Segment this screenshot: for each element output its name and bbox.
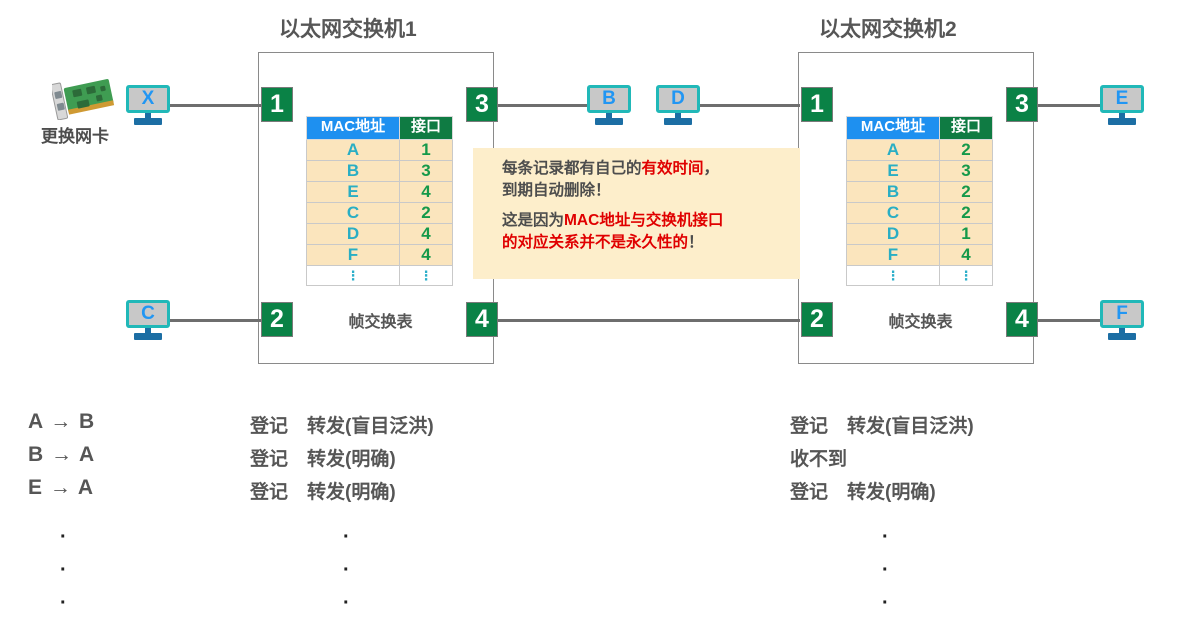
table-header-row: MAC地址 接口	[847, 117, 993, 140]
monitor-base	[134, 118, 162, 125]
table-row: B 3	[307, 160, 453, 181]
table-row: E 4	[307, 181, 453, 202]
note-line1-part-a: 每条记录都有自己的	[502, 160, 642, 177]
host-label: E	[1116, 89, 1129, 108]
cell-ellipsis-mac: ⋮	[847, 265, 940, 285]
ellipsis-dot-mid-1: ·	[343, 527, 350, 547]
monitor-screen: X	[126, 85, 170, 113]
switch2-title: 以太网交换机2	[819, 13, 957, 43]
ellipsis-dot-right-2: ·	[882, 560, 889, 580]
switch1-port-4[interactable]: 4	[466, 302, 498, 337]
cell-port: 4	[400, 223, 453, 244]
cell-mac: C	[847, 202, 940, 223]
wire-x-to-sw1-p1	[163, 104, 263, 107]
table-row-ellipsis: ⋮ ⋮	[307, 265, 453, 285]
cell-mac: E	[307, 181, 400, 202]
wire-sw1-p4-to-sw2-p2	[478, 319, 800, 322]
cell-ellipsis-port: ⋮	[400, 265, 453, 285]
flow-label-3: E → A	[28, 476, 94, 500]
table-row: A 1	[307, 139, 453, 160]
switch1-action-2: 登记 转发(明确)	[250, 444, 396, 471]
note-line-4: 的对应关系并不是永久性的！	[502, 232, 723, 254]
note-line-1: 每条记录都有自己的有效时间，	[502, 158, 723, 180]
host-x[interactable]: X	[126, 85, 170, 125]
ellipsis-dot-left-2: ·	[60, 560, 67, 580]
note-line1-part-b: ，	[704, 160, 720, 177]
nic-label: 更换网卡	[41, 122, 109, 147]
col-header-port: 接口	[940, 117, 993, 140]
wire-d-to-sw2-p1	[700, 104, 800, 107]
switch2-port-2[interactable]: 2	[801, 302, 833, 337]
col-header-mac: MAC地址	[307, 117, 400, 140]
switch2-port-3[interactable]: 3	[1006, 87, 1038, 122]
note-text-block: 每条记录都有自己的有效时间， 到期自动删除！ 这是因为MAC地址与交换机接口 的…	[502, 158, 723, 254]
table-row: C 2	[307, 202, 453, 223]
col-header-mac: MAC地址	[847, 117, 940, 140]
monitor-base	[664, 118, 692, 125]
cell-port: 2	[940, 202, 993, 223]
monitor-base	[1108, 333, 1136, 340]
cell-mac: F	[847, 244, 940, 265]
monitor-screen: D	[656, 85, 700, 113]
note-line4-highlight: 的对应关系并不是永久性的	[502, 234, 688, 251]
flow-label-2: B → A	[28, 443, 95, 467]
cell-port: 3	[940, 160, 993, 181]
cell-mac: A	[847, 139, 940, 160]
table-row: F 4	[847, 244, 993, 265]
switch1-port-1[interactable]: 1	[261, 87, 293, 122]
switch1-table-caption: 帧交换表	[306, 308, 455, 332]
host-e[interactable]: E	[1100, 85, 1144, 125]
cell-mac: B	[847, 181, 940, 202]
host-label: D	[671, 89, 685, 108]
table-row: D 1	[847, 223, 993, 244]
cell-ellipsis-mac: ⋮	[307, 265, 400, 285]
switch2-action-2: 收不到	[790, 444, 847, 471]
table-row: E 3	[847, 160, 993, 181]
note-line3-part-a: 这是因为	[502, 212, 564, 229]
table-row: A 2	[847, 139, 993, 160]
host-label: B	[602, 89, 616, 108]
table-row: B 2	[847, 181, 993, 202]
note-line-3: 这是因为MAC地址与交换机接口	[502, 210, 723, 232]
table-row: F 4	[307, 244, 453, 265]
switch2-port-4[interactable]: 4	[1006, 302, 1038, 337]
ellipsis-dot-right-1: ·	[882, 527, 889, 547]
monitor-base	[595, 118, 623, 125]
cell-mac: C	[307, 202, 400, 223]
cell-port: 2	[400, 202, 453, 223]
cell-mac: D	[847, 223, 940, 244]
switch1-action-3: 登记 转发(明确)	[250, 477, 396, 504]
cell-ellipsis-port: ⋮	[940, 265, 993, 285]
cell-port: 2	[940, 181, 993, 202]
cell-mac: B	[307, 160, 400, 181]
host-d[interactable]: D	[656, 85, 700, 125]
table-row: D 4	[307, 223, 453, 244]
table-header-row: MAC地址 接口	[307, 117, 453, 140]
note-spacer	[502, 202, 723, 210]
cell-port: 1	[940, 223, 993, 244]
switch2-table-caption: 帧交换表	[846, 308, 995, 332]
host-label: X	[142, 89, 155, 108]
cell-port: 2	[940, 139, 993, 160]
wire-c-to-sw1-p2	[163, 319, 263, 322]
flow-label-1: A → B	[28, 410, 95, 434]
ellipsis-dot-left-1: ·	[60, 527, 67, 547]
network-interface-card-icon	[52, 76, 118, 120]
host-b[interactable]: B	[587, 85, 631, 125]
note-line4-part-b: ！	[688, 234, 704, 251]
switch1-action-1: 登记 转发(盲目泛洪)	[250, 411, 434, 438]
cell-mac: F	[307, 244, 400, 265]
host-f[interactable]: F	[1100, 300, 1144, 340]
monitor-screen: B	[587, 85, 631, 113]
note-line1-highlight: 有效时间	[642, 160, 704, 177]
monitor-base	[1108, 118, 1136, 125]
table-row-ellipsis: ⋮ ⋮	[847, 265, 993, 285]
cell-port: 4	[400, 181, 453, 202]
col-header-port: 接口	[400, 117, 453, 140]
ellipsis-dot-mid-3: ·	[343, 593, 350, 613]
switch2-mac-table: MAC地址 接口 A 2 E 3 B 2 C 2 D 1 F 4 ⋮	[846, 116, 993, 286]
cell-mac: E	[847, 160, 940, 181]
ellipsis-dot-mid-2: ·	[343, 560, 350, 580]
ellipsis-dot-left-3: ·	[60, 593, 67, 613]
note-line3-highlight: MAC地址与交换机接口	[564, 212, 723, 229]
cell-port: 4	[400, 244, 453, 265]
monitor-screen: E	[1100, 85, 1144, 113]
monitor-screen: C	[126, 300, 170, 328]
switch1-mac-table: MAC地址 接口 A 1 B 3 E 4 C 2 D 4 F 4 ⋮	[306, 116, 453, 286]
ellipsis-dot-right-3: ·	[882, 593, 889, 613]
table-row: C 2	[847, 202, 993, 223]
monitor-screen: F	[1100, 300, 1144, 328]
switch1-port-2[interactable]: 2	[261, 302, 293, 337]
cell-port: 4	[940, 244, 993, 265]
switch2-action-1: 登记 转发(盲目泛洪)	[790, 411, 974, 438]
switch1-title: 以太网交换机1	[279, 13, 417, 43]
monitor-base	[134, 333, 162, 340]
host-label: C	[141, 304, 155, 323]
switch2-port-1[interactable]: 1	[801, 87, 833, 122]
switch2-action-3: 登记 转发(明确)	[790, 477, 936, 504]
host-c[interactable]: C	[126, 300, 170, 340]
cell-port: 3	[400, 160, 453, 181]
host-label: F	[1116, 304, 1128, 323]
cell-mac: A	[307, 139, 400, 160]
cell-port: 1	[400, 139, 453, 160]
switch1-port-3[interactable]: 3	[466, 87, 498, 122]
note-line-2: 到期自动删除！	[502, 180, 723, 202]
cell-mac: D	[307, 223, 400, 244]
